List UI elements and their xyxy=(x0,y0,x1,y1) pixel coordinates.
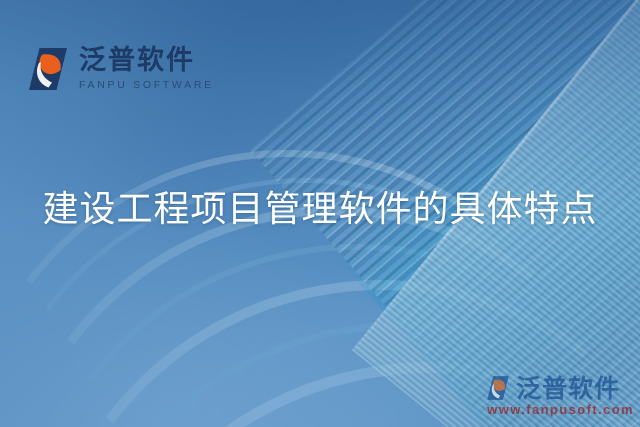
watermark-url: www.fanpusoft.com xyxy=(487,402,634,417)
logo-name-en: FANPU SOFTWARE xyxy=(79,79,214,91)
watermark-name-cn: 泛普软件 xyxy=(516,376,620,401)
top-haze-overlay xyxy=(0,0,640,210)
watermark: 泛普软件 www.fanpusoft.com xyxy=(485,375,634,417)
banner-image: 泛普软件 FANPU SOFTWARE 建设工程项目管理软件的具体特点 泛普软件… xyxy=(0,0,640,427)
watermark-fanpu-hexagon-logo-icon xyxy=(485,375,511,401)
fanpu-hexagon-logo-icon xyxy=(25,46,71,92)
logo-name-cn: 泛普软件 xyxy=(79,47,214,75)
brand-logo: 泛普软件 FANPU SOFTWARE xyxy=(25,46,214,92)
page-title: 建设工程项目管理软件的具体特点 xyxy=(0,180,640,232)
